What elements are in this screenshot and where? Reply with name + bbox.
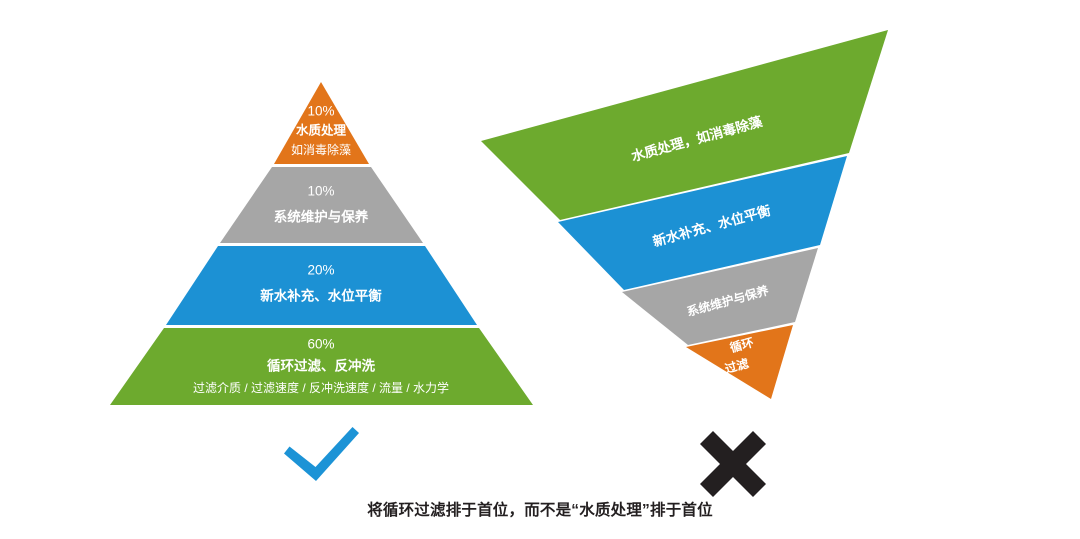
figure-caption: 将循环过滤排于首位，而不是“水质处理”排于首位: [0, 498, 1080, 520]
left-band-4-subtitle: 过滤介质 / 过滤速度 / 反冲洗速度 / 流量 / 水力学: [193, 380, 449, 395]
left-band-3-title: 新水补充、水位平衡: [260, 288, 382, 304]
check-icon: [284, 427, 359, 481]
left-band-1-percent: 10%: [307, 104, 334, 119]
left-band-2-title: 系统维护与保养: [274, 209, 369, 225]
left-band-4-title: 循环过滤、反冲洗: [267, 358, 375, 374]
correct-priority-pyramid: 10% 水质处理 如消毒除藻 10% 系统维护与保养 20% 新水补充、水位平衡…: [110, 82, 533, 405]
left-band-3-percent: 20%: [307, 263, 334, 278]
diagram-canvas: 10% 水质处理 如消毒除藻 10% 系统维护与保养 20% 新水补充、水位平衡…: [0, 0, 1080, 539]
pyramid-comparison-figure: 10% 水质处理 如消毒除藻 10% 系统维护与保养 20% 新水补充、水位平衡…: [0, 0, 1080, 539]
left-band-1-subtitle: 如消毒除藻: [291, 142, 351, 157]
cross-icon: [700, 431, 766, 497]
left-band-2-percent: 10%: [307, 184, 334, 199]
left-band-4-percent: 60%: [307, 337, 334, 352]
left-band-fresh-water-shape: [166, 246, 477, 325]
incorrect-priority-pyramid: 水质处理，如消毒除藻 新水补充、水位平衡 系统维护与保养 循环 过滤: [481, 30, 888, 399]
left-band-system-maintenance-shape: [220, 167, 423, 243]
left-band-1-title: 水质处理: [296, 122, 347, 137]
